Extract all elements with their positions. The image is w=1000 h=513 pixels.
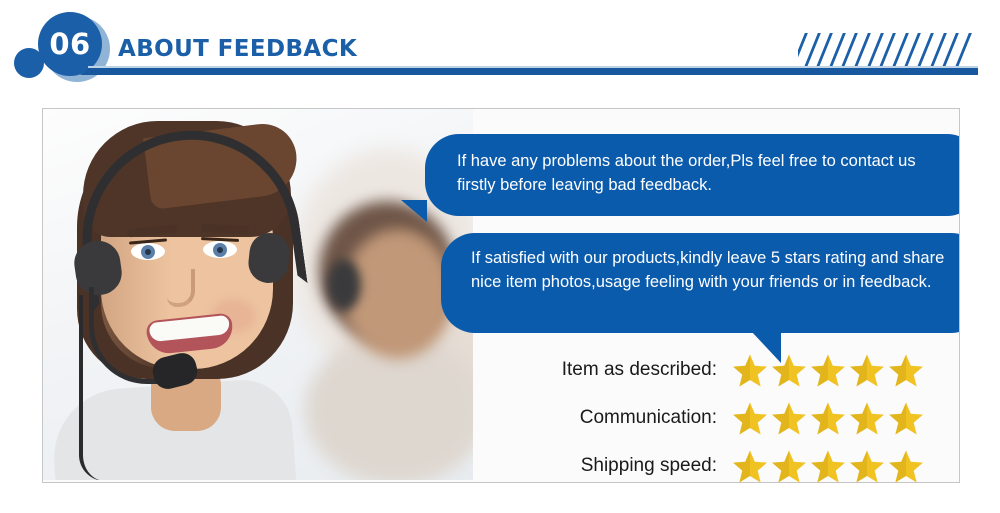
star-icon — [731, 448, 769, 484]
star-icon — [887, 448, 925, 484]
feedback-bubble-1: If have any problems about the order,Pls… — [425, 134, 960, 216]
section-header: 06 ABOUT FEEDBACK — [0, 0, 1000, 96]
star-icon — [848, 400, 886, 437]
feedback-panel: If have any problems about the order,Pls… — [42, 108, 960, 483]
page-title: ABOUT FEEDBACK — [118, 36, 357, 62]
star-icon — [848, 352, 886, 389]
feedback-bubble-1-text: If have any problems about the order,Pls… — [457, 150, 955, 198]
star-icon — [809, 400, 847, 437]
headset-cable — [79, 295, 105, 480]
diagonal-hatch-decoration — [798, 33, 976, 66]
star-icon — [731, 352, 769, 389]
rule-thick-line — [88, 68, 978, 75]
second-person-headset — [327, 259, 361, 311]
rating-row: Item as described: — [513, 349, 953, 391]
star-icon — [770, 400, 808, 437]
rating-stars — [731, 448, 925, 484]
rating-row: Shipping speed: — [513, 445, 953, 483]
star-icon — [809, 352, 847, 389]
section-number-label: 06 — [49, 30, 90, 59]
agent-photo — [43, 109, 473, 480]
rating-stars — [731, 400, 925, 437]
star-icon — [848, 448, 886, 484]
feedback-bubble-1-tail — [401, 200, 427, 222]
star-icon — [809, 448, 847, 484]
star-icon — [770, 448, 808, 484]
star-icon — [770, 352, 808, 389]
rating-label: Communication: — [513, 407, 731, 429]
star-icon — [887, 352, 925, 389]
rating-label: Item as described: — [513, 359, 731, 381]
ratings-list: Item as described:Communication:Shipping… — [513, 349, 953, 483]
feedback-bubble-2-text: If satisfied with our products,kindly le… — [471, 247, 960, 295]
rating-stars — [731, 352, 925, 389]
rating-row: Communication: — [513, 397, 953, 439]
rating-label: Shipping speed: — [513, 455, 731, 477]
feedback-bubble-2: If satisfied with our products,kindly le… — [441, 233, 960, 333]
star-icon — [731, 400, 769, 437]
star-icon — [887, 400, 925, 437]
